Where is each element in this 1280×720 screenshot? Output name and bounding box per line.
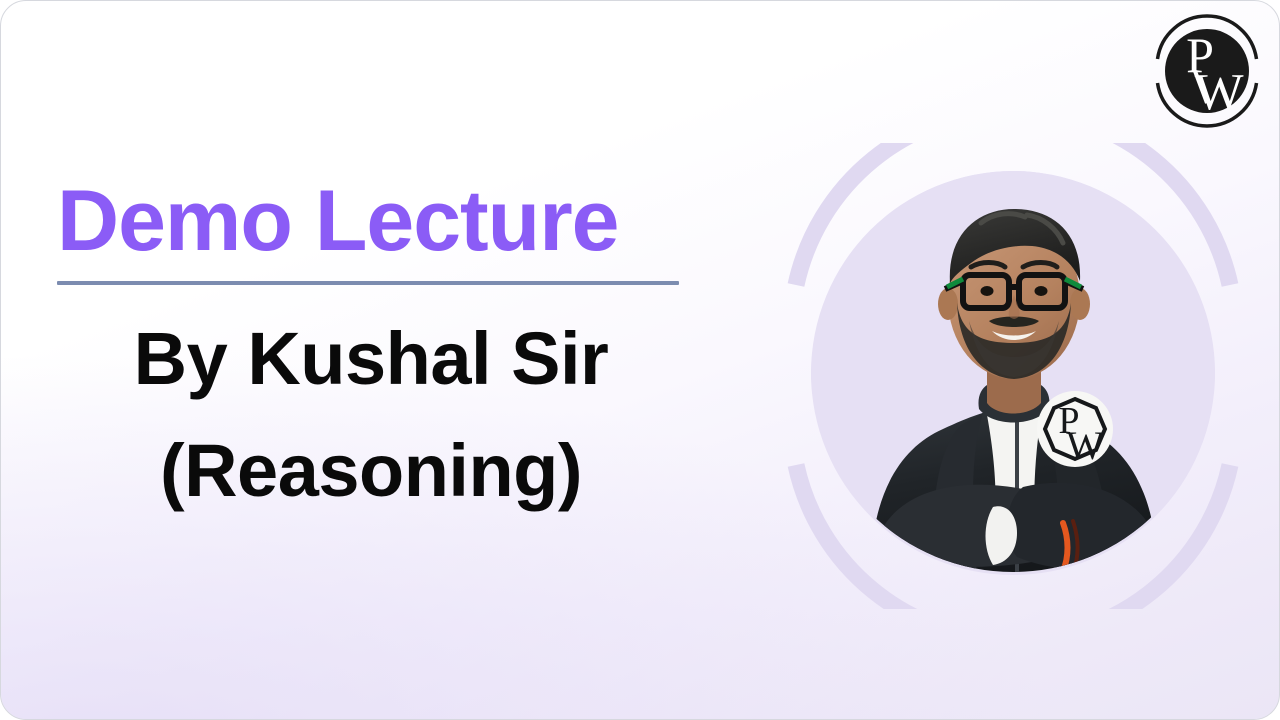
svg-text:W: W — [1066, 423, 1104, 468]
pw-logo: P W — [1145, 9, 1269, 133]
subtitle-group: By Kushal Sir (Reasoning) — [1, 303, 741, 527]
slide-canvas: P W Demo Lecture By Kushal Sir (Reasonin… — [0, 0, 1280, 720]
instructor-photo: P W — [811, 171, 1215, 581]
headline-block: Demo Lecture By Kushal Sir (Reasoning) — [1, 169, 741, 527]
portrait-medallion: P W — [783, 143, 1243, 609]
subtitle-line-subject: (Reasoning) — [1, 415, 741, 527]
subtitle-line-presenter: By Kushal Sir — [1, 303, 741, 415]
page-title: Demo Lecture — [1, 169, 741, 273]
title-underline-rule — [57, 281, 679, 285]
